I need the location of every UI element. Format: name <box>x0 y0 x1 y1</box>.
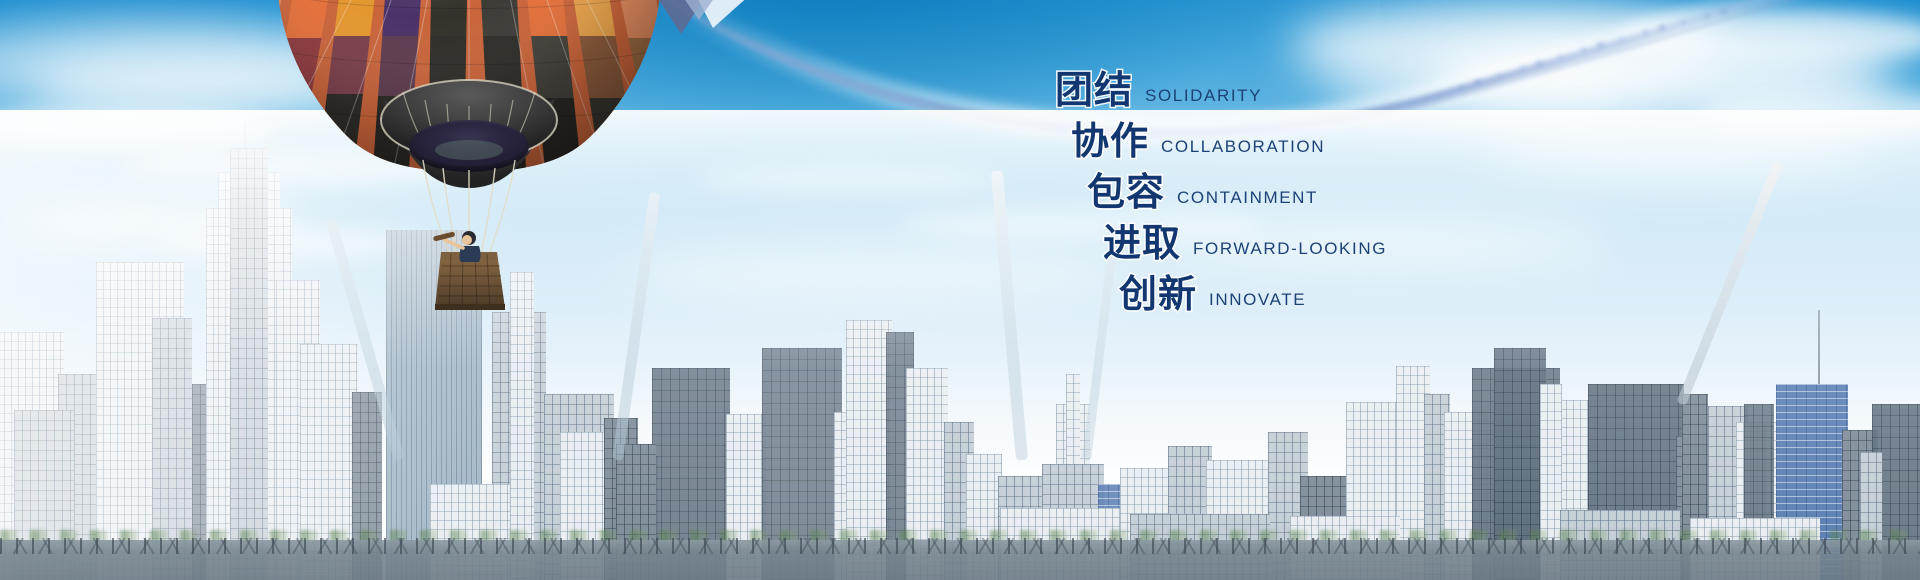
slogan-en-containment: CONTAINMENT <box>1177 189 1318 206</box>
hero-banner: 团结 SOLIDARITY 协作 COLLABORATION 包容 CONTAI… <box>0 0 1920 580</box>
paper-shard-decoration <box>655 0 751 36</box>
slogan-cn-collaboration: 协作 <box>1071 123 1149 161</box>
slogan-block: 团结 SOLIDARITY 协作 COLLABORATION 包容 CONTAI… <box>1055 72 1575 327</box>
slogan-en-solidarity: SOLIDARITY <box>1145 87 1262 104</box>
bridge-truss <box>0 538 1920 554</box>
slogan-en-collaboration: COLLABORATION <box>1161 138 1325 155</box>
slogan-cn-containment: 包容 <box>1087 174 1165 212</box>
slogan-en-forward-looking: FORWARD-LOOKING <box>1193 240 1387 257</box>
crane-boom <box>1676 161 1783 406</box>
slogan-row-forward-looking: 进取 FORWARD-LOOKING <box>1103 225 1575 263</box>
pylon-right <box>991 171 1028 461</box>
hot-air-balloon <box>273 0 665 328</box>
slogan-row-containment: 包容 CONTAINMENT <box>1087 174 1575 212</box>
slogan-row-collaboration: 协作 COLLABORATION <box>1071 123 1575 161</box>
slogan-cn-solidarity: 团结 <box>1055 72 1133 110</box>
slogan-cn-forward-looking: 进取 <box>1103 225 1181 263</box>
slogan-row-solidarity: 团结 SOLIDARITY <box>1055 72 1575 110</box>
slogan-cn-innovate: 创新 <box>1119 276 1197 314</box>
slogan-en-innovate: INNOVATE <box>1209 291 1306 308</box>
slogan-row-innovate: 创新 INNOVATE <box>1119 276 1575 314</box>
